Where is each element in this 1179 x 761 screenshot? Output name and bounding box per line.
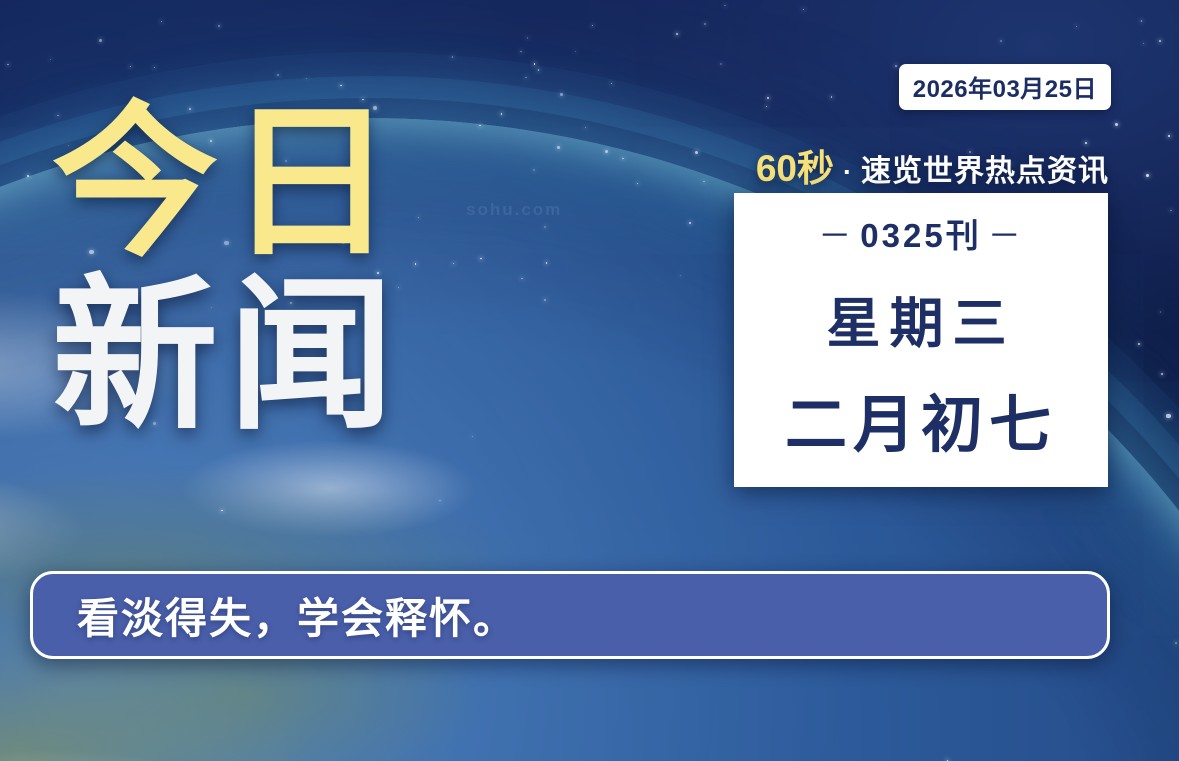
issue-info-card: －0325刊－ 星期三 二月初七 — [734, 193, 1108, 487]
lunar-date-label: 二月初七 — [785, 374, 1057, 464]
quote-text: 看淡得失，学会释怀。 — [33, 585, 517, 646]
tagline-text: 速览世界热点资讯 — [861, 146, 1109, 190]
tagline: 60秒 · 速览世界热点资讯 — [756, 138, 1109, 192]
quote-bar: 看淡得失，学会释怀。 — [30, 571, 1110, 659]
issue-number: 0325刊 — [860, 217, 981, 254]
poster-title: 今日 新闻 — [52, 104, 482, 437]
issue-number-row: －0325刊－ — [812, 209, 1029, 257]
title-line-news: 新闻 — [52, 277, 482, 436]
title-line-today: 今日 — [52, 104, 482, 263]
issue-dash-left: － — [812, 217, 860, 254]
news-poster: sohu.com 今日 新闻 2026年03月25日 60秒 · 速览世界热点资… — [0, 0, 1179, 761]
tagline-separator: · — [840, 157, 855, 188]
date-badge: 2026年03月25日 — [899, 64, 1111, 110]
tagline-duration: 60秒 — [756, 138, 834, 192]
issue-dash-right: － — [982, 217, 1030, 254]
weekday-label: 星期三 — [827, 279, 1016, 358]
